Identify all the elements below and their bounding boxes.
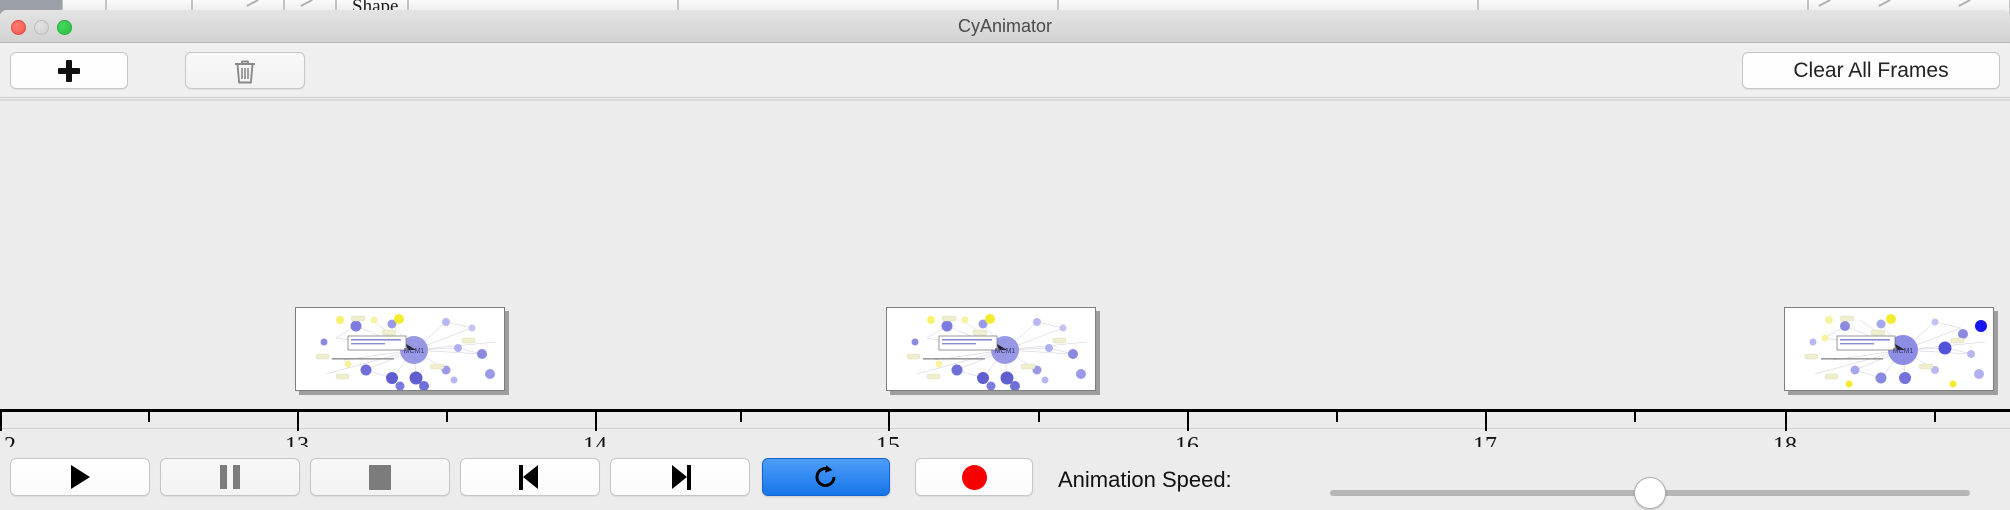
trash-icon <box>232 57 258 85</box>
axis-tick-major <box>888 412 890 431</box>
axis-tick-minor <box>1634 412 1636 422</box>
axis-tick-minor <box>740 412 742 422</box>
cyanimator-window-root: Shape CyAnimator <box>0 0 2010 510</box>
axis-tick-minor <box>1038 412 1040 422</box>
axis-tick-major <box>297 412 299 431</box>
add-frame-button[interactable] <box>10 52 128 89</box>
thumbnail-card: MCM1 <box>886 307 1096 391</box>
stop-icon <box>369 465 391 490</box>
network-hub-label: MCM1 <box>995 348 1016 355</box>
title-bar: CyAnimator <box>0 10 2010 43</box>
network-preview: MCM1 <box>1785 308 1993 390</box>
timeline-top-divider <box>0 99 2010 101</box>
cyanimator-window: CyAnimator Clear All Frames <box>0 10 2010 510</box>
network-preview: MCM1 <box>296 308 504 390</box>
clear-all-frames-button[interactable]: Clear All Frames <box>1742 52 2000 89</box>
animation-speed-slider-thumb[interactable] <box>1634 477 1666 509</box>
keyframe-thumbnail[interactable]: MCM1 <box>1784 307 1998 395</box>
record-button[interactable] <box>915 458 1033 496</box>
animation-speed-label: Animation Speed: <box>1058 467 1232 493</box>
skip-previous-icon <box>517 465 543 490</box>
axis-tick-minor <box>1336 412 1338 422</box>
axis-tick-major <box>0 412 2 431</box>
axis-tick-major <box>595 412 597 431</box>
pause-icon <box>220 465 240 489</box>
stop-button[interactable] <box>310 458 450 496</box>
loop-icon <box>812 463 840 491</box>
delete-frame-button[interactable] <box>185 52 305 89</box>
timeline-axis-line <box>0 409 2010 412</box>
playback-controls: Animation Speed: <box>0 447 2010 510</box>
axis-tick-major <box>1785 412 1787 431</box>
network-preview: MCM1 <box>887 308 1095 390</box>
window-title: CyAnimator <box>0 16 2010 37</box>
plus-icon <box>58 60 80 82</box>
axis-tick-minor <box>148 412 150 422</box>
loop-button[interactable] <box>762 458 890 496</box>
skip-next-button[interactable] <box>610 458 750 496</box>
axis-tick-minor <box>1934 412 1936 422</box>
network-hub-label: MCM1 <box>404 348 425 355</box>
axis-tick-minor <box>446 412 448 422</box>
keyframe-thumbnail[interactable]: MCM1 <box>886 307 1100 395</box>
thumbnail-card: MCM1 <box>295 307 505 391</box>
keyframe-thumbnail[interactable]: MCM1 <box>295 307 509 395</box>
record-icon <box>962 465 987 490</box>
clear-all-frames-label: Clear All Frames <box>1793 59 1948 83</box>
skip-next-icon <box>667 465 693 490</box>
timeline-panel[interactable]: MCM1 <box>0 99 2010 429</box>
pause-button[interactable] <box>160 458 300 496</box>
toolbar: Clear All Frames <box>0 43 2010 98</box>
axis-tick-major <box>1187 412 1189 431</box>
network-hub-label: MCM1 <box>1893 348 1914 355</box>
skip-previous-button[interactable] <box>460 458 600 496</box>
thumbnail-card: MCM1 <box>1784 307 1994 391</box>
play-icon <box>71 465 90 489</box>
axis-tick-major <box>1485 412 1487 431</box>
play-button[interactable] <box>10 458 150 496</box>
